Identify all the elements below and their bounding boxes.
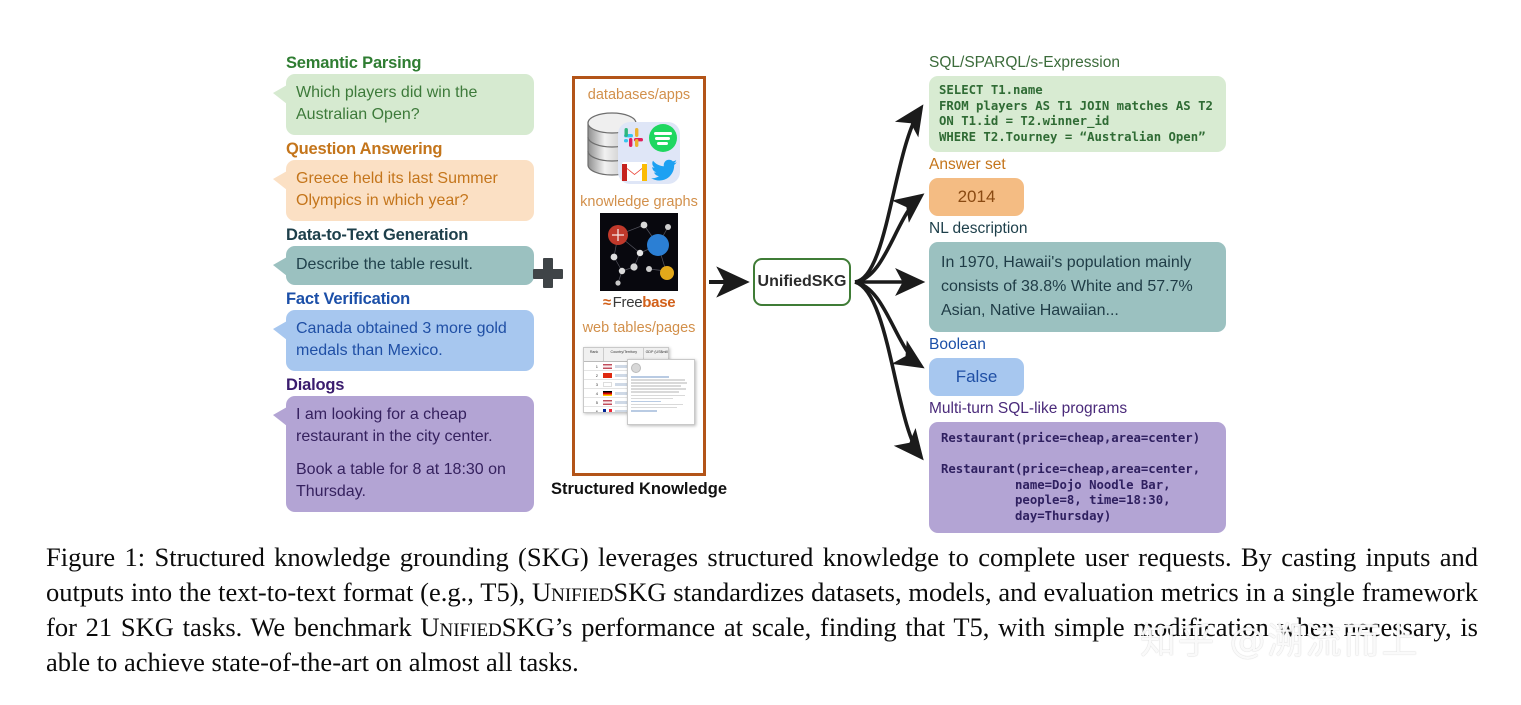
page-text-line: [631, 404, 683, 406]
task-group-question-answering: Question Answering Greece held its last …: [272, 138, 534, 221]
spotify-wave-2: [655, 137, 670, 140]
wiki-globe-icon: [631, 363, 641, 373]
bubble-tail-icon: [273, 407, 287, 426]
page-title-line: [631, 376, 669, 378]
task-bubble-line: I am looking for a cheap restaurant in t…: [296, 404, 524, 448]
web-table-rank: 3: [584, 382, 600, 387]
task-bubble: I am looking for a cheap restaurant in t…: [286, 396, 534, 512]
output-box-sql: SELECT T1.name FROM players AS T1 JOIN m…: [929, 76, 1226, 152]
sk-section-label-knowledge-graphs: knowledge graphs: [575, 193, 703, 211]
plus-icon: [533, 258, 563, 288]
task-title: Dialogs: [272, 374, 534, 396]
output-group-nl-description: NL description In 1970, Hawaii's populat…: [929, 218, 1239, 332]
task-group-semantic-parsing: Semantic Parsing Which players did win t…: [272, 52, 534, 135]
knowledge-graph-svg: [600, 213, 678, 291]
web-table-rank: 4: [584, 391, 600, 396]
arrow-to-answer-set-output: [855, 196, 921, 282]
output-group-multiturn: Multi-turn SQL-like programs Restaurant(…: [929, 398, 1239, 533]
web-table-and-page-icon: Rank Country/Territory GDP (US$million) …: [583, 341, 695, 425]
page-link-line: [631, 401, 661, 403]
flag-icon: [603, 382, 612, 387]
output-group-answer-set: Answer set 2014: [929, 154, 1239, 216]
apps-tile: [618, 122, 680, 184]
output-title: Boolean: [929, 334, 1239, 356]
output-title: SQL/SPARQL/s-Expression: [929, 52, 1239, 74]
structured-knowledge-panel: databases/apps: [572, 76, 706, 476]
page-text-line: [631, 382, 687, 384]
page-text-line: [631, 385, 681, 387]
arrow-to-sql-output: [855, 108, 921, 282]
outputs-column: SQL/SPARQL/s-Expression SELECT T1.name F…: [929, 52, 1239, 535]
task-title: Semantic Parsing: [272, 52, 534, 74]
sk-section-label-databases: databases/apps: [575, 86, 703, 104]
output-group-sql: SQL/SPARQL/s-Expression SELECT T1.name F…: [929, 52, 1239, 152]
page-text-line: [631, 391, 679, 393]
flag-icon: [603, 400, 612, 405]
page-text-line: [631, 398, 673, 400]
figure-container: Semantic Parsing Which players did win t…: [0, 0, 1521, 705]
figure-caption: Figure 1: Structured knowledge grounding…: [46, 540, 1478, 680]
web-table-rank: 2: [584, 373, 600, 378]
unifiedskg-node[interactable]: UnifiedSKG: [753, 258, 851, 306]
caption-smallcaps-2: Unified: [420, 612, 501, 642]
task-inputs-column: Semantic Parsing Which players did win t…: [272, 52, 534, 515]
arrow-to-multiturn-output: [855, 282, 921, 457]
task-group-data-to-text: Data-to-Text Generation Describe the tab…: [272, 224, 534, 285]
structured-knowledge-caption: Structured Knowledge: [530, 480, 748, 499]
output-title: NL description: [929, 218, 1239, 240]
freebase-logo: ≈Freebase: [575, 294, 703, 312]
slack-icon: [622, 125, 648, 151]
page-text-line: [631, 379, 685, 381]
output-box-multiturn: Restaurant(price=cheap,area=center) Rest…: [929, 422, 1226, 533]
freebase-mark-icon: ≈: [603, 294, 611, 311]
web-table-col-rank: Rank: [584, 348, 604, 361]
bubble-tail-icon: [273, 85, 287, 104]
caption-prefix: Figure 1:: [46, 542, 154, 572]
page-text-line: [631, 407, 677, 409]
flag-icon: [603, 373, 612, 378]
output-title: Answer set: [929, 154, 1239, 176]
task-bubble: Greece held its last Summer Olympics in …: [286, 160, 534, 221]
gmail-icon: [621, 160, 648, 182]
twitter-icon: [651, 159, 678, 181]
task-bubble: Describe the table result.: [286, 246, 534, 285]
task-bubble: Which players did win the Australian Ope…: [286, 74, 534, 135]
freebase-word-light: Free: [613, 294, 643, 311]
task-title: Question Answering: [272, 138, 534, 160]
bubble-tail-icon: [273, 257, 287, 276]
spotify-icon: [649, 124, 677, 152]
page-link-line: [631, 410, 657, 412]
bubble-tail-icon: [273, 171, 287, 190]
task-title: Data-to-Text Generation: [272, 224, 534, 246]
output-group-boolean: Boolean False: [929, 334, 1239, 396]
sk-section-label-web-tables: web tables/pages: [575, 319, 703, 337]
freebase-word-bold: base: [642, 294, 675, 311]
spotify-wave-3: [657, 142, 668, 145]
caption-smallcaps-1: Unified: [532, 577, 613, 607]
task-title: Fact Verification: [272, 288, 534, 310]
page-text-line: [631, 388, 686, 390]
web-table-rank: 6: [584, 409, 600, 414]
web-page-thumbnail: [627, 359, 695, 425]
output-box-boolean: False: [929, 358, 1024, 396]
task-group-dialogs: Dialogs I am looking for a cheap restaur…: [272, 374, 534, 512]
arrow-to-boolean-output: [855, 282, 921, 366]
output-box-nl-description: In 1970, Hawaii's population mainly cons…: [929, 242, 1226, 332]
output-title: Multi-turn SQL-like programs: [929, 398, 1239, 420]
flag-icon: [603, 409, 612, 414]
task-bubble-line: Greece held its last Summer Olympics in …: [296, 168, 524, 212]
bubble-tail-icon: [273, 321, 287, 340]
page-text-line: [631, 395, 685, 397]
plus-vertical-bar: [543, 258, 553, 288]
flag-icon: [603, 364, 612, 369]
task-bubble-line: Which players did win the Australian Ope…: [296, 82, 524, 126]
knowledge-graph-icon: [600, 213, 678, 291]
database-and-apps-icon: [584, 108, 694, 186]
task-bubble: Canada obtained 3 more gold medals than …: [286, 310, 534, 371]
web-table-rank: 5: [584, 400, 600, 405]
task-bubble-line: Describe the table result.: [296, 254, 524, 276]
flag-icon: [603, 391, 612, 396]
task-group-fact-verification: Fact Verification Canada obtained 3 more…: [272, 288, 534, 371]
spotify-wave-1: [654, 132, 672, 135]
task-bubble-line: Canada obtained 3 more gold medals than …: [296, 318, 524, 362]
web-table-rank: 1: [584, 364, 600, 369]
task-bubble-line: Book a table for 8 at 18:30 on Thursday.: [296, 459, 524, 503]
output-box-answer-set: 2014: [929, 178, 1024, 216]
